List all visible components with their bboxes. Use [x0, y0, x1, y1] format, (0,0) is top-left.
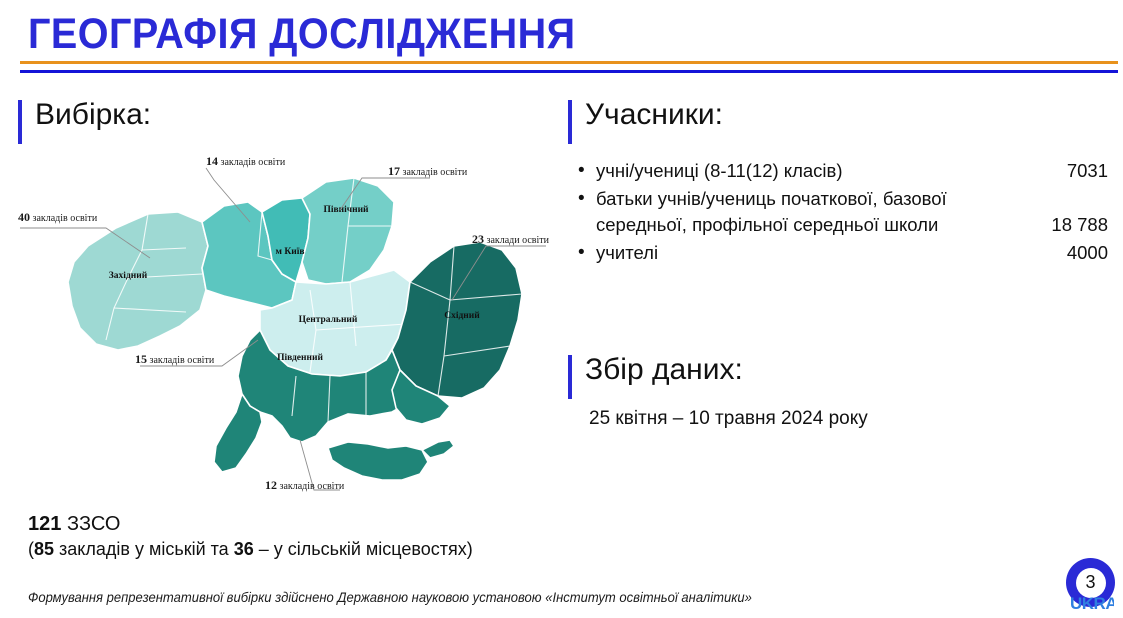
summary-rural-text: – у сільській місцевостях) [254, 539, 473, 559]
ukraine-region-map: Західний Північний м Київ Центральний Сх… [10, 150, 555, 505]
list-item: • батьки учнів/учениць початкової, базов… [578, 186, 1108, 238]
divider-orange [20, 61, 1118, 64]
brand-logo: UKRA MEDIA [1070, 597, 1114, 618]
section-label-collection: Збір даних: [585, 353, 743, 387]
accent-bar [18, 100, 22, 144]
callout-text: заклади освіти [484, 235, 549, 246]
participant-label-line2: середньої, профільної середньої школи [596, 212, 1022, 238]
section-label-participants: Учасники: [585, 98, 723, 132]
bullet-icon: • [578, 186, 596, 212]
divider-blue [20, 70, 1118, 73]
participant-label: учні/учениці (8-11(12) класів) [596, 158, 1030, 184]
participant-label: батьки учнів/учениць початкової, базової… [596, 186, 1030, 238]
callout-text: закладів освіти [400, 167, 467, 178]
map-label-pivnichnyi: Північний [323, 204, 369, 215]
summary-urban-number: 85 [34, 539, 54, 559]
callout-number: 17 [388, 164, 400, 178]
map-region-zahidnyi[interactable] [68, 212, 208, 350]
bullet-icon: • [578, 158, 596, 184]
map-callout-north2: 17 закладів освіти [388, 164, 467, 179]
list-item: • учителі 4000 [578, 240, 1108, 266]
callout-number: 40 [18, 210, 30, 224]
brand-wordmark: UKRA [1070, 597, 1114, 611]
callout-text: закладів освіти [30, 213, 97, 224]
callout-number: 23 [472, 232, 484, 246]
callout-text: закладів освіти [218, 157, 285, 168]
participant-count: 4000 [1030, 240, 1108, 266]
callout-number: 12 [265, 478, 277, 492]
callout-number: 14 [206, 154, 218, 168]
map-region-crimea[interactable] [328, 442, 428, 480]
summary-detail: (85 закладів у міській та 36 – у сільськ… [28, 537, 473, 561]
callout-text: закладів освіти [147, 355, 214, 366]
map-label-tsentralnyi: Центральний [299, 314, 358, 325]
summary-total-number: 121 [28, 513, 61, 535]
participant-count: 18 788 [1030, 212, 1108, 238]
map-label-kyiv: м Київ [276, 247, 305, 257]
accent-bar [568, 100, 572, 144]
section-label-sample: Вибірка: [35, 98, 151, 132]
map-label-pivdennyi: Південний [277, 352, 323, 363]
participants-list: • учні/учениці (8-11(12) класів) 7031 • … [578, 158, 1108, 268]
footnote: Формування репрезентативної вибірки здій… [28, 589, 752, 605]
map-callout-center: 15 закладів освіти [135, 352, 214, 367]
map-label-skhidnyi: Східний [444, 310, 480, 321]
list-item: • учні/учениці (8-11(12) класів) 7031 [578, 158, 1108, 184]
sample-summary: 121 ЗЗСО (85 закладів у міській та 36 – … [28, 512, 473, 561]
summary-total: 121 ЗЗСО [28, 512, 473, 537]
participant-label-line1: батьки учнів/учениць початкової, базової [596, 188, 947, 209]
summary-urban-text: закладів у міській та [54, 539, 234, 559]
accent-bar [568, 355, 572, 399]
map-callout-east: 23 заклади освіти [472, 232, 549, 247]
callout-number: 15 [135, 352, 147, 366]
page-number: 3 [1076, 568, 1106, 598]
callout-text: закладів освіти [277, 481, 344, 492]
bullet-icon: • [578, 240, 596, 266]
summary-total-unit: ЗЗСО [67, 513, 121, 535]
summary-rural-number: 36 [234, 539, 254, 559]
map-label-zahidnyi: Західний [109, 270, 148, 281]
map-callout-west: 40 закладів освіти [18, 210, 97, 225]
participant-count: 7031 [1030, 158, 1108, 184]
participant-label: учителі [596, 240, 1030, 266]
map-callout-south: 12 закладів освіти [265, 478, 344, 493]
map-callout-north1: 14 закладів освіти [206, 154, 285, 169]
page-title: ГЕОГРАФІЯ ДОСЛІДЖЕННЯ [28, 10, 576, 59]
collection-period: 25 квітня – 10 травня 2024 року [589, 408, 868, 430]
slide-root: ГЕОГРАФІЯ ДОСЛІДЖЕННЯ Вибірка: Учасники:… [0, 0, 1123, 618]
map-region-crimea-tip[interactable] [422, 440, 454, 458]
